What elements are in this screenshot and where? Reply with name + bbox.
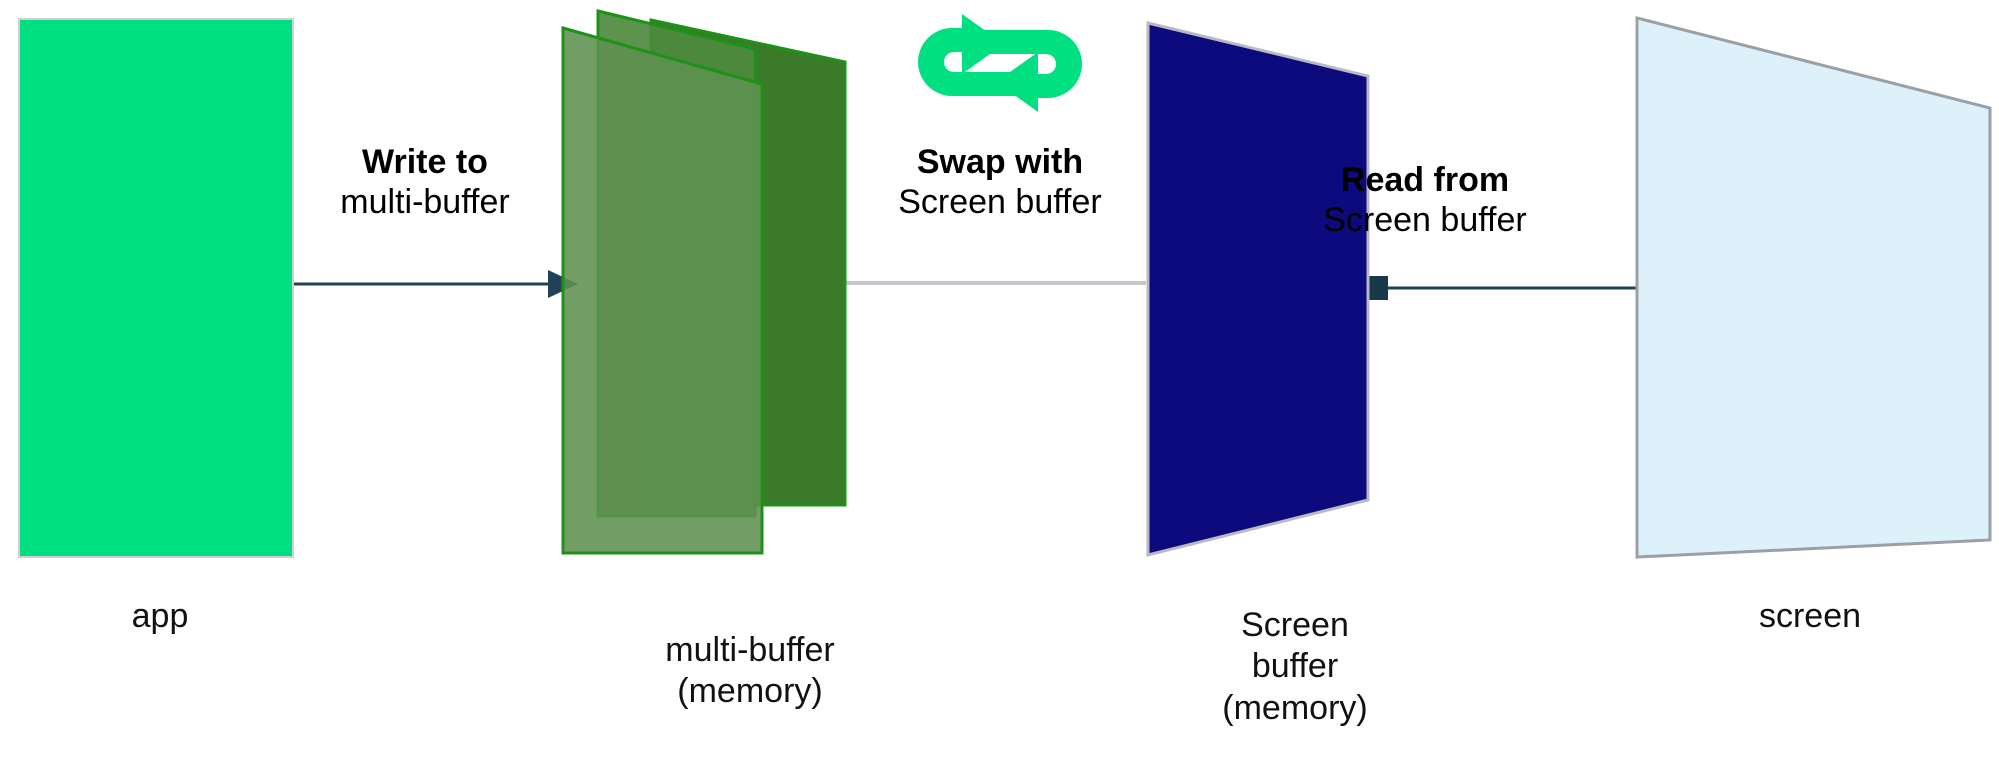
- edge-label-read: Read from Screen buffer: [1245, 160, 1605, 240]
- node-multibuffer-layer-back: [651, 20, 845, 505]
- node-caption-screen-buffer: Screen buffer (memory): [1085, 605, 1505, 729]
- edge-label-read-bold: Read from: [1245, 160, 1605, 200]
- edge-label-write: Write to multi-buffer: [245, 142, 605, 222]
- edge-label-swap: Swap with Screen buffer: [830, 142, 1170, 222]
- diagram-canvas: Write to multi-buffer Swap with Screen b…: [0, 0, 1999, 771]
- node-caption-app: app: [30, 596, 290, 637]
- edge-label-read-plain: Screen buffer: [1245, 200, 1605, 240]
- node-caption-screen: screen: [1640, 596, 1980, 637]
- node-caption-multibuffer: multi-buffer (memory): [530, 630, 970, 713]
- node-app-rectangle[interactable]: [18, 18, 294, 558]
- edge-label-write-plain: multi-buffer: [245, 182, 605, 222]
- node-multibuffer-layer-middle: [598, 11, 755, 516]
- swap-loop-icon: [900, 4, 1100, 122]
- node-screen-buffer-shape: [1148, 23, 1368, 555]
- edge-label-write-bold: Write to: [245, 142, 605, 182]
- node-caption-multibuffer-line2: (memory): [530, 671, 970, 712]
- node-caption-screen-buffer-line1: Screen: [1085, 605, 1505, 646]
- node-screen-shape: [1637, 18, 1990, 557]
- node-multibuffer-layer-front: [563, 28, 762, 553]
- edge-write-arrow: [294, 270, 578, 298]
- node-caption-screen-buffer-line3: (memory): [1085, 688, 1505, 729]
- node-caption-screen-buffer-line2: buffer: [1085, 646, 1505, 687]
- node-caption-multibuffer-line1: multi-buffer: [530, 630, 970, 671]
- edge-label-swap-bold: Swap with: [830, 142, 1170, 182]
- edge-label-swap-plain: Screen buffer: [830, 182, 1170, 222]
- node-caption-app-text: app: [132, 597, 189, 635]
- edge-read-line: [1362, 276, 1637, 300]
- node-caption-screen-text: screen: [1759, 597, 1861, 635]
